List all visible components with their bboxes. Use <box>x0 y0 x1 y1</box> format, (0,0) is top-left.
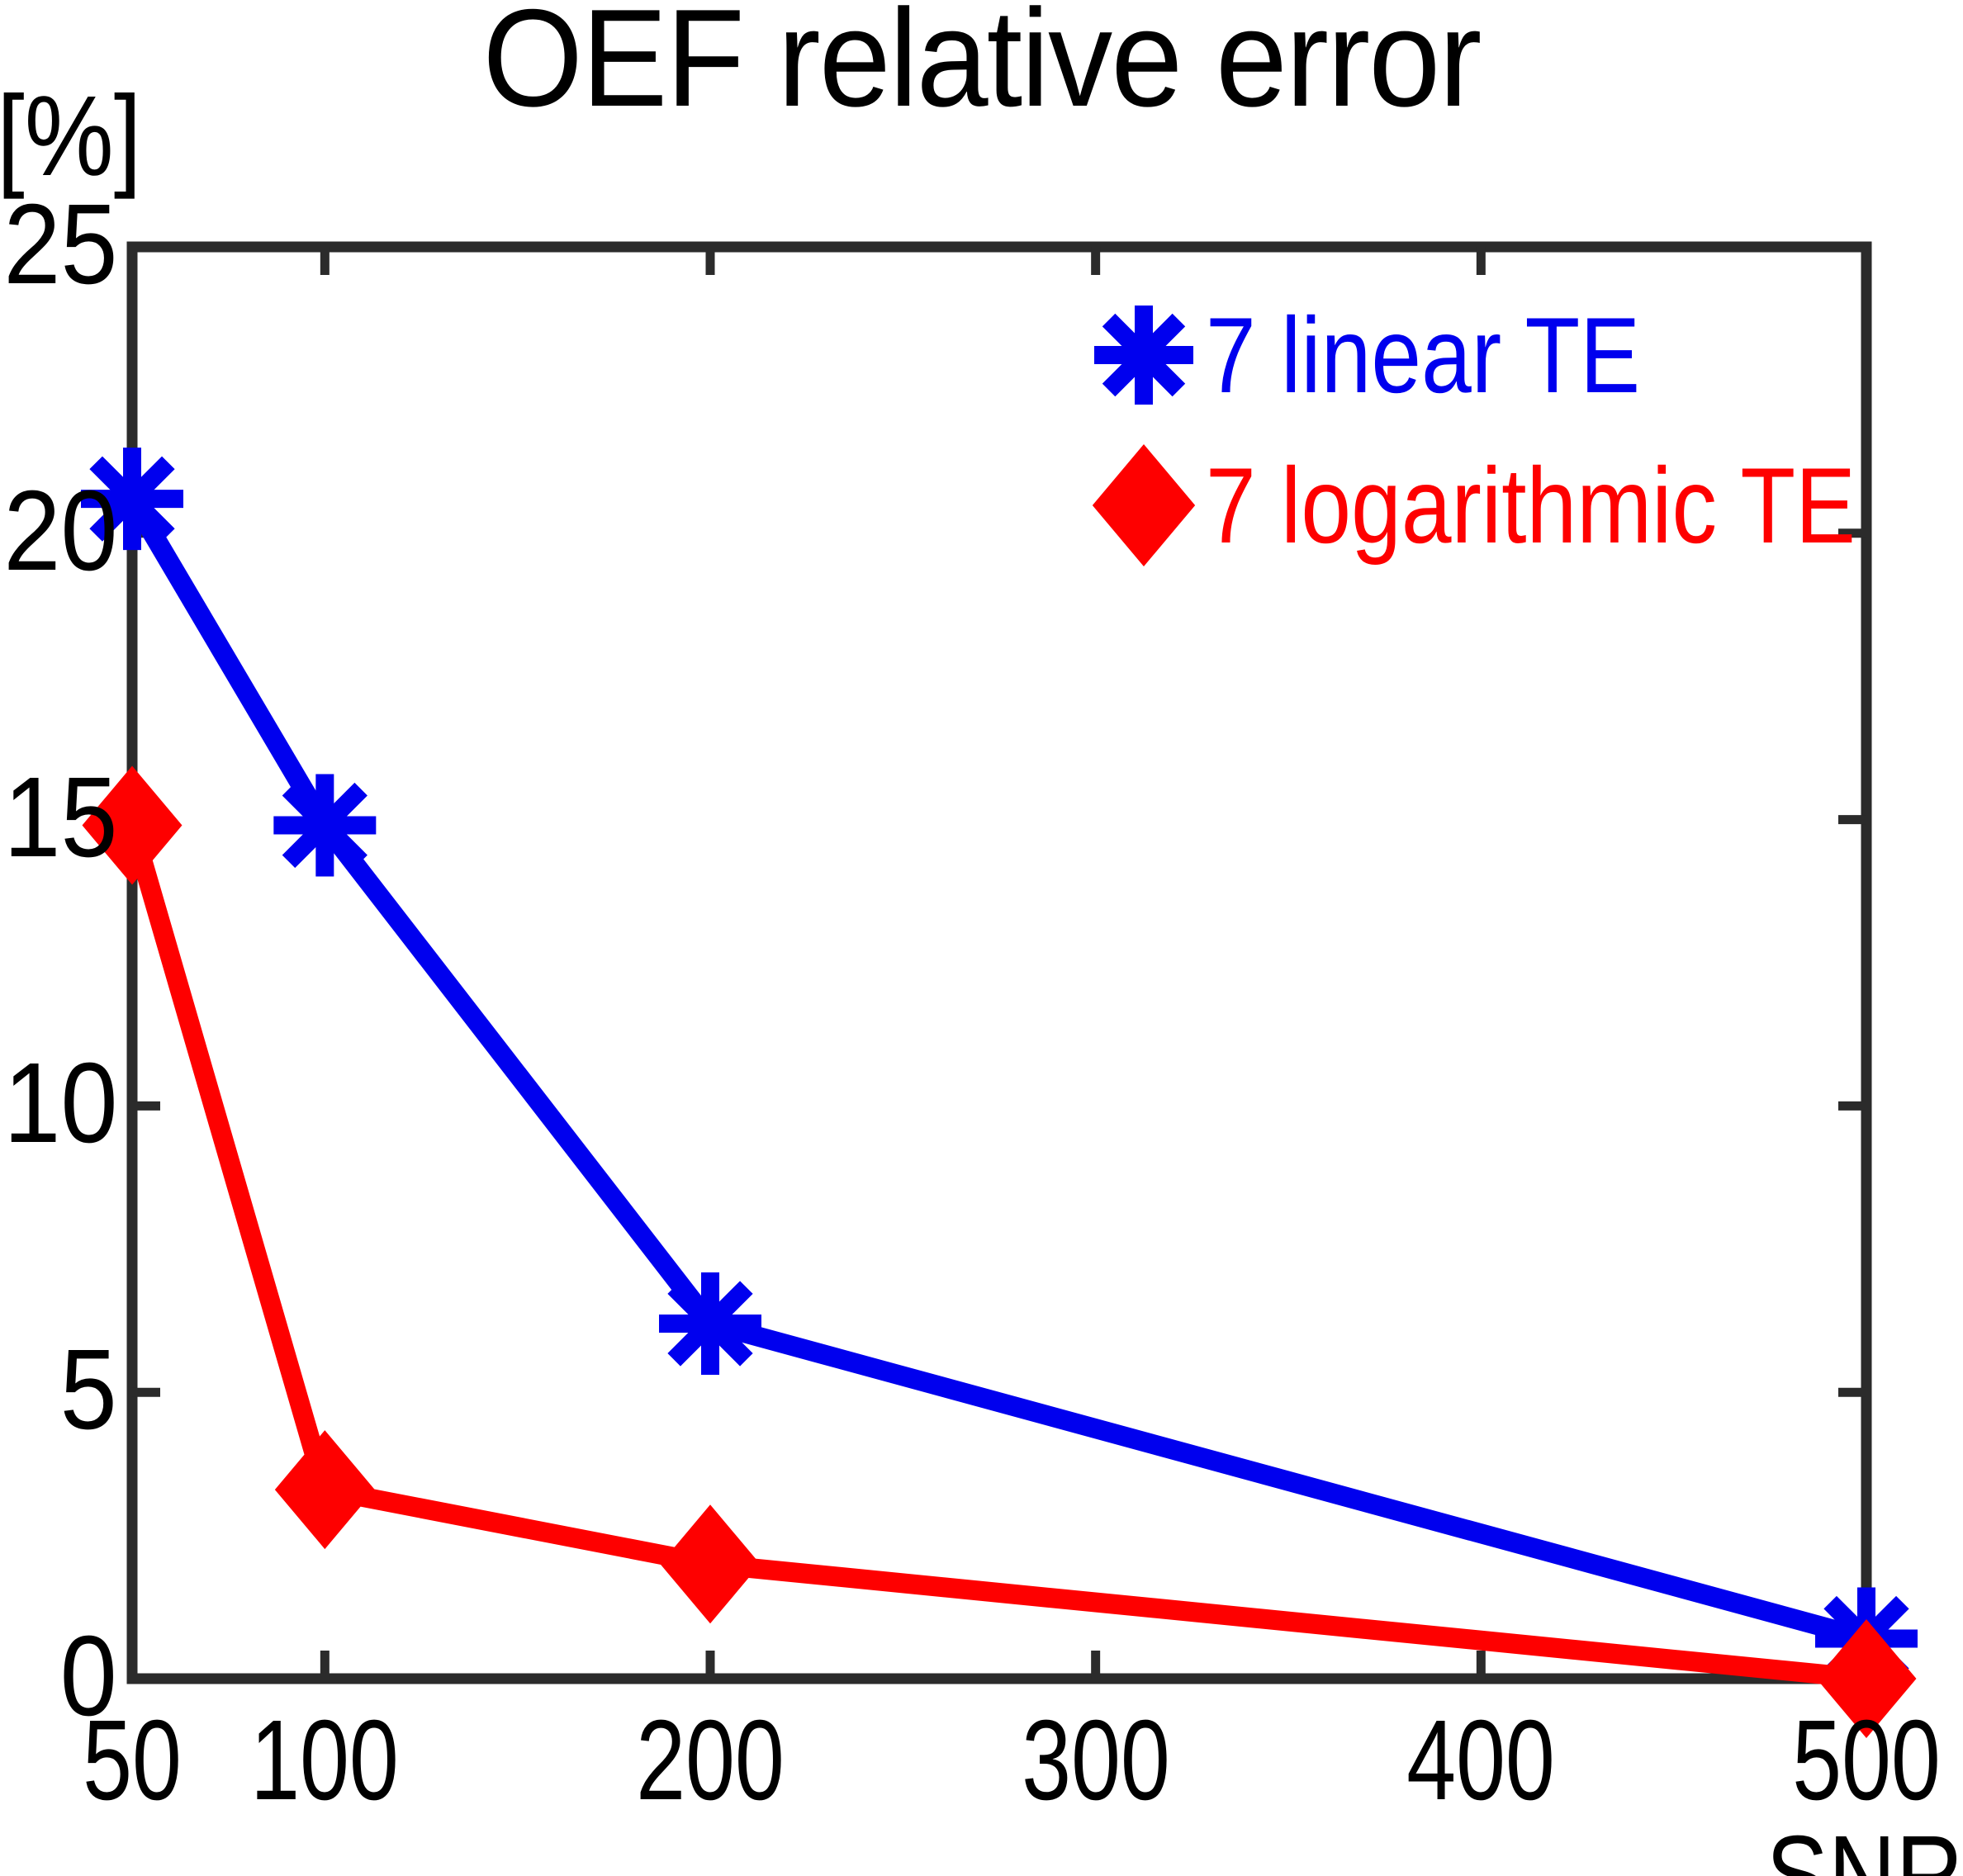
series-line <box>132 826 1866 1679</box>
diamond-marker <box>661 1504 761 1623</box>
legend-label: 7 logarithmic TE <box>1206 452 1856 559</box>
asterisk-marker <box>1094 306 1193 405</box>
y-tick-label: 20 <box>3 474 117 588</box>
diamond-icon <box>1082 435 1206 576</box>
y-tick-label: 15 <box>3 760 117 874</box>
x-tick-label: 200 <box>581 1703 839 1817</box>
diamond-marker <box>1093 444 1195 566</box>
x-tick-label: 100 <box>196 1703 453 1817</box>
x-axis-label: SNR <box>1766 1819 1963 1876</box>
x-tick-label: 500 <box>1738 1703 1963 1817</box>
legend-entry-0[interactable]: 7 linear TE <box>1082 285 1723 425</box>
x-tick-label: 400 <box>1352 1703 1610 1817</box>
data-series-layer <box>81 448 1918 1738</box>
chart-figure: OEF relative error [%] 0510152025 501002… <box>0 0 1963 1876</box>
asterisk-icon <box>1082 285 1206 425</box>
y-tick-label: 5 <box>60 1333 117 1447</box>
asterisk-marker <box>273 775 376 877</box>
series-line <box>132 499 1866 1638</box>
y-tick-label: 10 <box>3 1046 117 1160</box>
asterisk-marker <box>659 1272 761 1375</box>
x-tick-label: 300 <box>967 1703 1225 1817</box>
legend-entry-1[interactable]: 7 logarithmic TE <box>1082 435 1963 576</box>
diamond-marker <box>275 1430 375 1549</box>
y-tick-label: 25 <box>3 187 117 301</box>
plot-area <box>0 0 1963 1876</box>
series-1 <box>83 766 1917 1738</box>
legend-label: 7 linear TE <box>1206 301 1640 409</box>
